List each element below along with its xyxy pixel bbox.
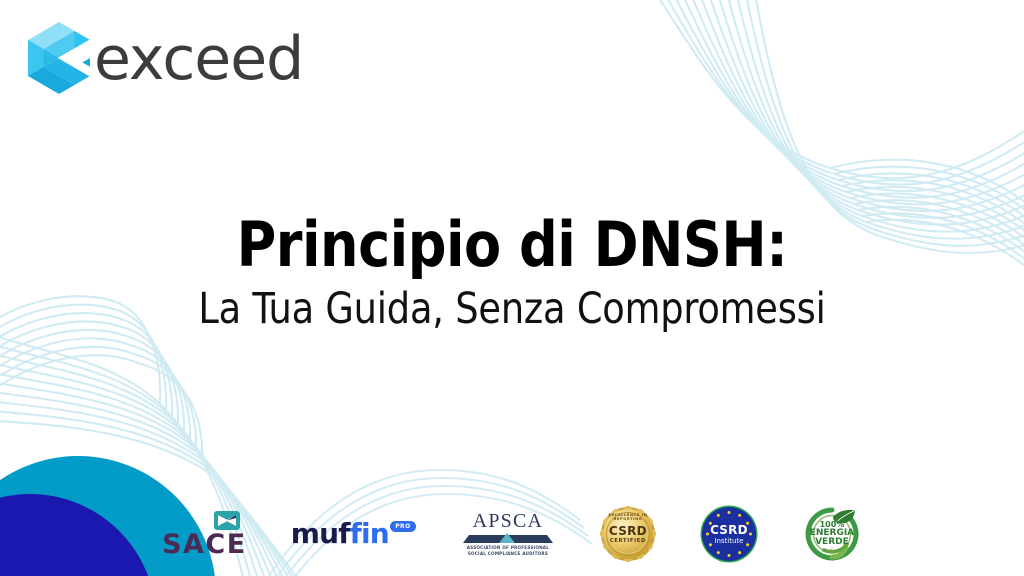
apsca-subtitle-line2: SOCIAL COMPLIANCE AUDITORS [468, 551, 548, 556]
energia-verde-icon [802, 504, 862, 564]
logo-item-sace[interactable]: SACE [162, 501, 247, 567]
apsca-subtitle: ASSOCIATION OF PROFESSIONAL SOCIAL COMPL… [461, 545, 555, 557]
page-title: Principio di DNSH: [15, 213, 1008, 276]
apsca-subtitle-line1: ASSOCIATION OF PROFESSIONAL [467, 545, 549, 550]
logo-item-energia-verde[interactable]: 100% ENERGIA VERDE certificata [802, 501, 862, 567]
partner-logo-strip: SACE muffin PRO APSCA ASSOCIATION OF PRO… [0, 496, 1024, 572]
logo-item-muffin[interactable]: muffin PRO [291, 501, 416, 567]
page-subtitle: La Tua Guida, Senza Compromessi [26, 286, 999, 333]
logo-item-csrd-institute[interactable]: CSRD Institute [700, 501, 758, 567]
muffin-pro-badge: PRO [390, 521, 416, 532]
logo-item-apsca[interactable]: APSCA ASSOCIATION OF PROFESSIONAL SOCIAL… [460, 501, 556, 567]
headline-block: Principio di DNSH: La Tua Guida, Senza C… [0, 213, 1024, 334]
brand-wordmark: exceed [94, 29, 303, 89]
sace-mark-icon [214, 511, 240, 530]
muffin-word-part2: fin [350, 517, 389, 550]
brand-logo[interactable]: exceed [28, 22, 303, 94]
slide-canvas: exceed Principio di DNSH: La Tua Guida, … [0, 0, 1024, 576]
muffin-word-part1: muf [291, 517, 350, 550]
apsca-wordmark: APSCA [473, 511, 543, 531]
rosette-arc-text: EXCELLENCE IN REPORTING [600, 513, 656, 521]
logo-item-csrd-certified[interactable]: EXCELLENCE IN REPORTING CSRD CERTIFIED [600, 501, 656, 567]
sace-wordmark: SACE [162, 531, 247, 558]
muffin-wordmark: muffin [291, 520, 389, 548]
apsca-bar-icon [463, 533, 553, 543]
exceed-hexagon-icon [28, 22, 90, 94]
csrd-institute-icon [700, 505, 758, 563]
